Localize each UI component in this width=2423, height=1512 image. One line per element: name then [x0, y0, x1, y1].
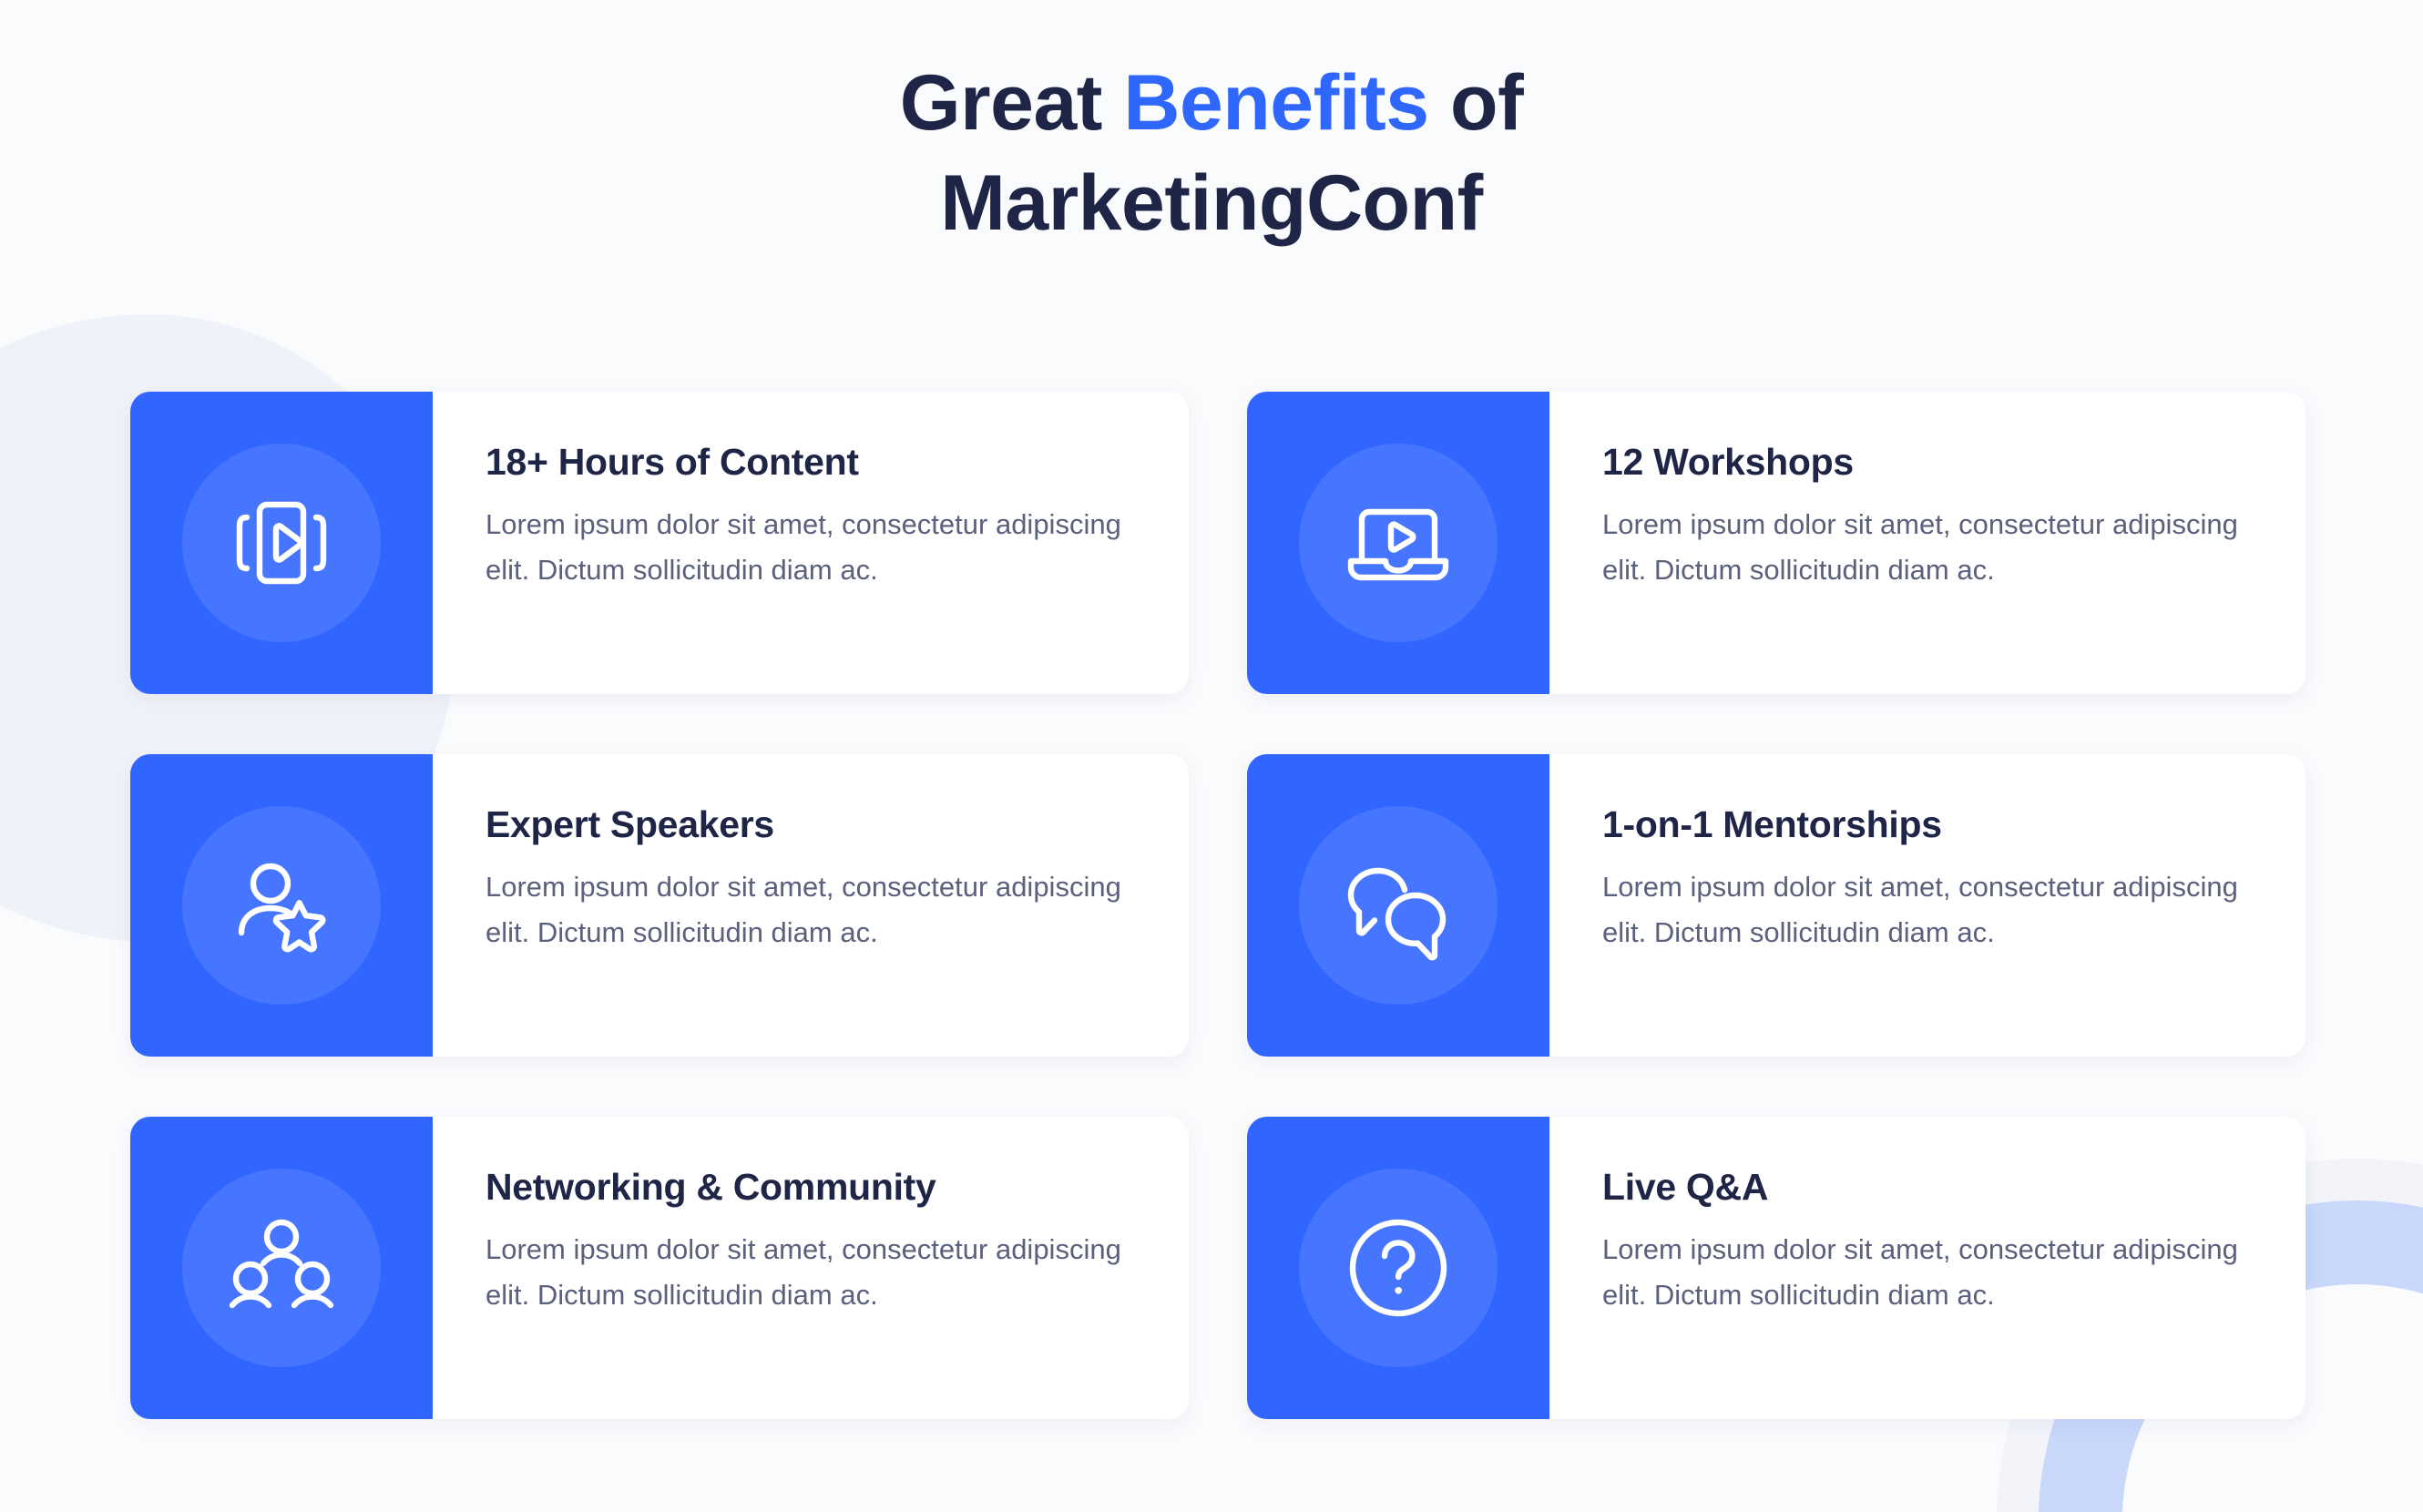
video-carousel-play-icon: [223, 485, 340, 601]
card-title: Expert Speakers: [486, 803, 1138, 846]
benefit-card[interactable]: Networking & Community Lorem ipsum dolor…: [130, 1117, 1189, 1419]
person-star-icon: [223, 847, 340, 964]
card-icon-panel: [130, 754, 433, 1057]
card-title: Live Q&A: [1602, 1166, 2254, 1209]
card-description: Lorem ipsum dolor sit amet, consectetur …: [1602, 1227, 2249, 1318]
question-mark-circle-icon: [1340, 1210, 1457, 1326]
page-title-line2: MarketingConf: [940, 159, 1483, 247]
benefit-card[interactable]: 12 Workshops Lorem ipsum dolor sit amet,…: [1247, 392, 2305, 694]
card-body: 18+ Hours of Content Lorem ipsum dolor s…: [433, 392, 1189, 694]
benefit-card[interactable]: 18+ Hours of Content Lorem ipsum dolor s…: [130, 392, 1189, 694]
chat-bubbles-icon: [1340, 847, 1457, 964]
card-body: Live Q&A Lorem ipsum dolor sit amet, con…: [1549, 1117, 2305, 1419]
card-title: 18+ Hours of Content: [486, 441, 1138, 484]
card-description: Lorem ipsum dolor sit amet, consectetur …: [486, 864, 1132, 955]
benefits-page: Great Benefits of MarketingConf 18+ Hour…: [0, 0, 2423, 1512]
benefit-card[interactable]: Expert Speakers Lorem ipsum dolor sit am…: [130, 754, 1189, 1057]
benefits-card-grid: 18+ Hours of Content Lorem ipsum dolor s…: [130, 392, 2305, 1419]
page-title-accent-word: Benefits: [1123, 59, 1428, 147]
card-description: Lorem ipsum dolor sit amet, consectetur …: [1602, 502, 2249, 593]
card-title: 1-on-1 Mentorships: [1602, 803, 2254, 846]
card-title: 12 Workshops: [1602, 441, 2254, 484]
card-icon-panel: [1247, 392, 1549, 694]
card-description: Lorem ipsum dolor sit amet, consectetur …: [1602, 864, 2249, 955]
card-icon-panel: [1247, 754, 1549, 1057]
card-icon-panel: [130, 392, 433, 694]
card-icon-panel: [130, 1117, 433, 1419]
page-title-line1-after: of: [1429, 59, 1524, 147]
card-description: Lorem ipsum dolor sit amet, consectetur …: [486, 502, 1132, 593]
card-title: Networking & Community: [486, 1166, 1138, 1209]
card-body: Expert Speakers Lorem ipsum dolor sit am…: [433, 754, 1189, 1057]
card-description: Lorem ipsum dolor sit amet, consectetur …: [486, 1227, 1132, 1318]
benefit-card[interactable]: 1-on-1 Mentorships Lorem ipsum dolor sit…: [1247, 754, 2305, 1057]
page-title: Great Benefits of MarketingConf: [0, 53, 2423, 253]
laptop-play-icon: [1340, 485, 1457, 601]
card-body: Networking & Community Lorem ipsum dolor…: [433, 1117, 1189, 1419]
card-icon-panel: [1247, 1117, 1549, 1419]
card-body: 12 Workshops Lorem ipsum dolor sit amet,…: [1549, 392, 2305, 694]
page-title-line1-before: Great: [900, 59, 1124, 147]
three-people-group-icon: [223, 1210, 340, 1326]
card-body: 1-on-1 Mentorships Lorem ipsum dolor sit…: [1549, 754, 2305, 1057]
benefit-card[interactable]: Live Q&A Lorem ipsum dolor sit amet, con…: [1247, 1117, 2305, 1419]
